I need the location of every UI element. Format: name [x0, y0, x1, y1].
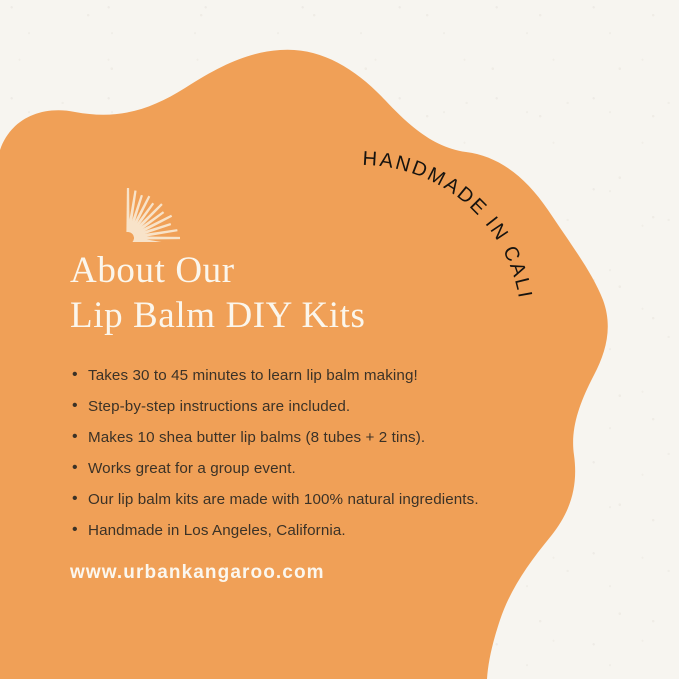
list-item: Takes 30 to 45 minutes to learn lip balm…: [70, 364, 518, 387]
list-item: Handmade in Los Angeles, California.: [70, 519, 518, 542]
list-item: Our lip balm kits are made with 100% nat…: [70, 488, 518, 511]
page-title: About Our Lip Balm DIY Kits: [70, 248, 540, 338]
page-title-line2: Lip Balm DIY Kits: [70, 295, 366, 336]
list-item: Makes 10 shea butter lip balms (8 tubes …: [70, 426, 518, 449]
product-info-card: HANDMADE IN CALIFORNIA About Our Lip Bal…: [0, 0, 679, 679]
page-title-line1: About Our: [70, 250, 235, 291]
list-item: Step-by-step instructions are included.: [70, 395, 518, 418]
list-item: Works great for a group event.: [70, 457, 518, 480]
card-content: About Our Lip Balm DIY Kits Takes 30 to …: [70, 248, 540, 584]
website-url[interactable]: www.urbankangaroo.com: [70, 562, 540, 584]
feature-bullet-list: Takes 30 to 45 minutes to learn lip balm…: [70, 364, 540, 542]
